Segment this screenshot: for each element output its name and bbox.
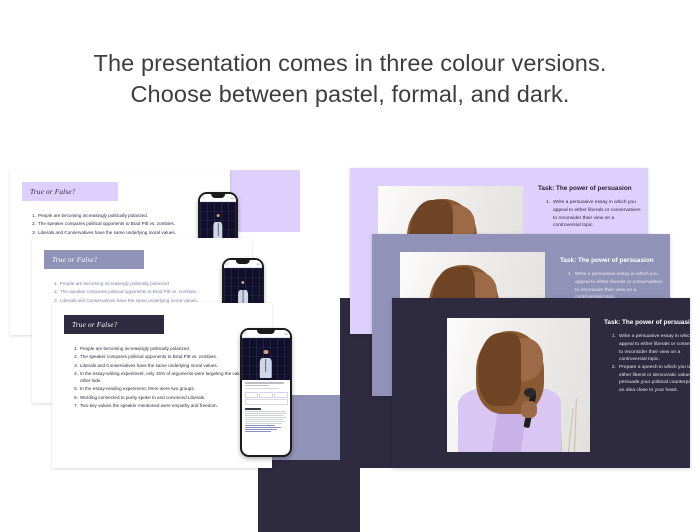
list-item: 5.In the essay-reading experiment, there…: [64, 385, 260, 392]
task-text-block: Task: The power of persuasion 1.Write a …: [604, 318, 690, 395]
slide-task-dark[interactable]: Task: The power of persuasion 1.Write a …: [392, 298, 690, 468]
headline-line-1: The presentation comes in three colour v…: [0, 48, 700, 79]
account-icon[interactable]: ●●: [230, 196, 234, 200]
list-item: 3.Liberals and Conservatives have the sa…: [64, 362, 260, 369]
phone-screen: ☰ TED ●●: [242, 330, 290, 455]
list-item: 1.Write a persuasive essay in which you …: [560, 271, 664, 299]
list-item: 1.Write a persuasive essay in which you …: [604, 333, 690, 363]
task-list: 1.Write a persuasive essay in which you …: [560, 271, 664, 299]
save-button[interactable]: [259, 392, 273, 398]
list-item: 6.Wording connected to purity spoke to a…: [64, 394, 260, 401]
task-slide-stack: Task: The power of persuasion 1.Write a …: [340, 160, 700, 480]
slide-title: Task: The power of persuasion: [560, 256, 664, 265]
slide-title: True or False?: [30, 188, 76, 196]
speaker-figure: [260, 350, 272, 379]
slide-title: Task: The power of persuasion: [604, 318, 690, 327]
account-icon[interactable]: ●●: [284, 332, 288, 336]
page-title: The presentation comes in three colour v…: [0, 48, 700, 110]
list-item: 1.People are becoming increasingly polit…: [44, 280, 240, 287]
watch-next-button[interactable]: [245, 399, 288, 405]
video-player[interactable]: [242, 338, 290, 380]
account-icon[interactable]: ●●: [256, 262, 260, 266]
menu-icon[interactable]: ☰: [202, 196, 205, 200]
slide-title: True or False?: [72, 321, 118, 329]
list-item: 7.Two key values the speaker mentioned w…: [64, 402, 260, 409]
list-item: 2.The speaker compares political opponen…: [22, 220, 218, 227]
phone-notch: [257, 330, 275, 334]
rate-button[interactable]: [274, 392, 288, 398]
list-item: 1.People are becoming increasingly polit…: [22, 212, 218, 219]
true-or-false-slide-stack: True or False? 1.People are becoming inc…: [0, 160, 360, 480]
article-title: [242, 380, 290, 389]
list-item: 1.Write a persuasive essay in which you …: [538, 199, 642, 229]
list-item: 2.The speaker compares political opponen…: [64, 353, 260, 360]
slide-title-band: True or False?: [22, 182, 118, 201]
article-body: [245, 411, 288, 432]
article-action-buttons[interactable]: [242, 390, 290, 398]
list-item: 4.In the essay-writing experiment, only …: [64, 370, 260, 384]
slide-title-band: True or False?: [64, 315, 164, 334]
headline-line-2: Choose between pastel, formal, and dark.: [0, 79, 700, 110]
task-text-block: Task: The power of persuasion 1.Write a …: [538, 184, 642, 229]
true-or-false-list: 1.People are becoming increasingly polit…: [64, 345, 260, 410]
slide-title-band: True or False?: [44, 250, 144, 269]
list-item: 2.Prepare a speech in which you tap into…: [604, 364, 690, 394]
menu-icon[interactable]: ☰: [226, 262, 229, 266]
slide-true-or-false-dark[interactable]: True or False? 1.People are becoming inc…: [52, 303, 272, 468]
task-list: 1.Write a persuasive essay in which you …: [538, 199, 642, 229]
phone-mockup-dark[interactable]: ☰ TED ●●: [240, 328, 292, 457]
talk-details-heading: [245, 408, 261, 410]
task-list: 1.Write a persuasive essay in which you …: [604, 333, 690, 394]
list-item: 3.Liberals and Conservatives have the sa…: [22, 229, 218, 236]
share-button[interactable]: [245, 392, 259, 398]
slide-title: True or False?: [52, 256, 98, 264]
list-item: 1.People are becoming increasingly polit…: [64, 345, 260, 352]
list-item: 2.The speaker compares political opponen…: [44, 288, 240, 295]
phone-notch: [211, 194, 225, 198]
slide-preview-page: The presentation comes in three colour v…: [0, 0, 700, 520]
slide-title: Task: The power of persuasion: [538, 184, 642, 193]
menu-icon[interactable]: ☰: [244, 332, 247, 336]
task-text-block: Task: The power of persuasion 1.Write a …: [560, 256, 664, 299]
speaker-photo: [447, 318, 590, 452]
